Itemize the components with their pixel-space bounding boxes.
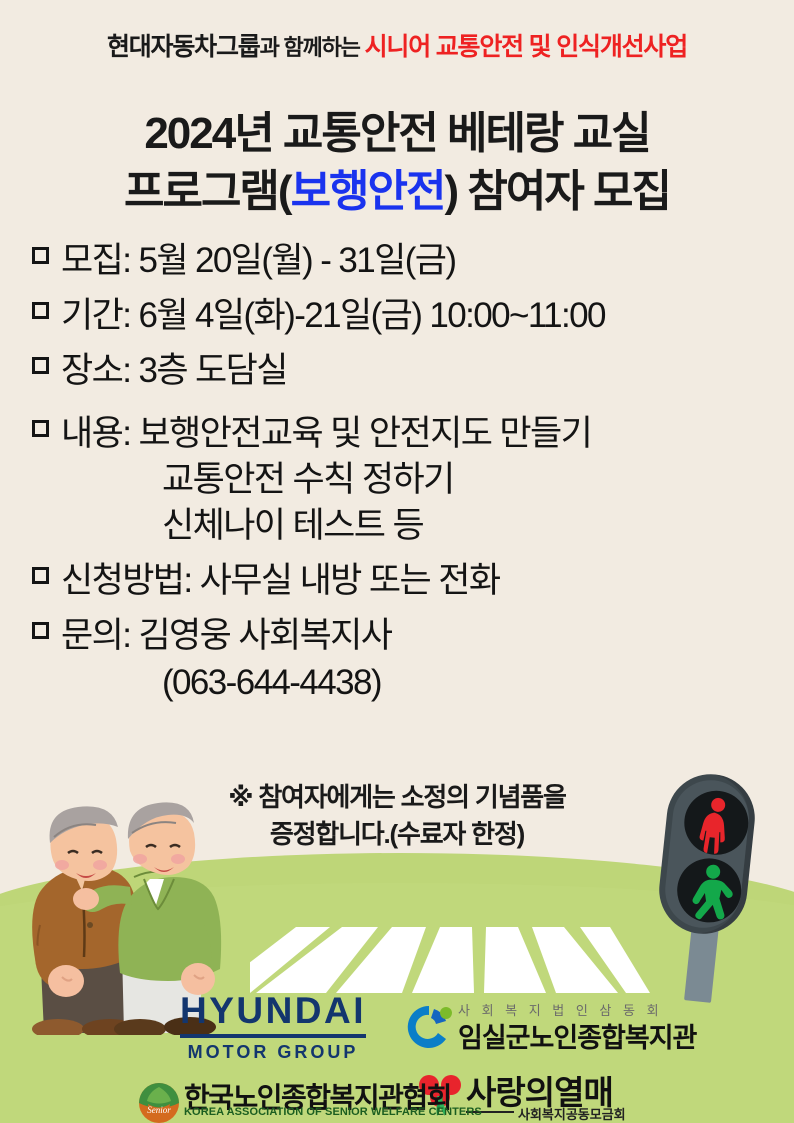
details-list: 모집: 5월 20일(월) - 31일(금) 기간: 6월 4일(화)-21일(… <box>32 238 792 706</box>
detail-contact-phone: (063-644-4438) <box>32 660 792 706</box>
hyundai-wordmark: HYUNDAI <box>168 992 378 1029</box>
list-item: 기간: 6월 4일(화)-21일(금) 10:00~11:00 <box>32 293 792 339</box>
gift-note-line2: 증정합니다.(수료자 한정) <box>0 816 794 853</box>
gift-note-line1: ※ 참여자에게는 소정의 기념품을 <box>0 779 794 816</box>
crosswalk-stripes-icon <box>250 915 650 993</box>
list-item: 문의: 김영웅 사회복지사 <box>32 613 792 659</box>
square-bullet-icon <box>32 622 49 639</box>
list-item: 장소: 3층 도담실 <box>32 348 792 394</box>
detail-location: 장소: 3층 도담실 <box>61 348 287 394</box>
hyundai-motor-group-logo: HYUNDAI MOTOR GROUP <box>168 992 378 1063</box>
traffic-light-green-lamp <box>674 855 744 925</box>
detail-content: 내용: 보행안전교육 및 안전지도 만들기 <box>61 411 591 457</box>
list-item: 모집: 5월 20일(월) - 31일(금) <box>32 238 792 284</box>
page-title-line1: 2024년 교통안전 베테랑 교실 <box>0 97 794 161</box>
detail-period: 기간: 6월 4일(화)-21일(금) 10:00~11:00 <box>61 293 605 339</box>
walking-pedestrian-icon <box>674 855 744 925</box>
kicker-connector: 과 함께하는 <box>260 35 365 60</box>
crosswalk-illustration <box>250 915 650 993</box>
kicker-line: 현대자동차그룹과 함께하는 시니어 교통안전 및 인식개선사업 <box>0 27 794 63</box>
kicker-program-name: 시니어 교통안전 및 인식개선사업 <box>365 33 687 61</box>
page-title-line2: 프로그램(보행안전) 참여자 모집 <box>0 155 794 219</box>
imsil-circle-mark-icon <box>404 1002 454 1052</box>
kasw-english-name: KOREA ASSOCIATION OF SENIOR WELFARE CENT… <box>184 1106 482 1118</box>
title-prefix: 프로그램( <box>124 167 291 216</box>
title-suffix: ) 참여자 모집 <box>444 167 670 216</box>
detail-recruitment: 모집: 5월 20일(월) - 31일(금) <box>61 238 455 284</box>
hyundai-sub-wordmark: MOTOR GROUP <box>168 1042 378 1063</box>
square-bullet-icon <box>32 420 49 437</box>
senior-seal-mark-icon: Senior <box>136 1082 182 1123</box>
kicker-brand: 현대자동차그룹 <box>107 33 260 61</box>
detail-contact: 문의: 김영웅 사회복지사 <box>61 613 391 659</box>
square-bullet-icon <box>32 302 49 319</box>
list-item: 신청방법: 사무실 내방 또는 전화 <box>32 558 792 604</box>
gift-note: ※ 참여자에게는 소정의 기념품을 증정합니다.(수료자 한정) <box>0 779 794 853</box>
detail-content-subline-1: 교통안전 수칙 정하기 <box>32 457 792 503</box>
square-bullet-icon <box>32 357 49 374</box>
square-bullet-icon <box>32 567 49 584</box>
hyundai-underline <box>180 1034 366 1038</box>
list-item: 내용: 보행안전교육 및 안전지도 만들기 <box>32 411 792 457</box>
fruit-of-love-sub: 사회복지공동모금회 <box>518 1104 626 1123</box>
svg-text:Senior: Senior <box>147 1105 171 1115</box>
detail-content-subline-2: 신체나이 테스트 등 <box>32 503 792 549</box>
imsil-name: 임실군노인종합복지관 <box>458 1016 696 1055</box>
square-bullet-icon <box>32 247 49 264</box>
poster-canvas: 현대자동차그룹과 함께하는 시니어 교통안전 및 인식개선사업 2024년 교통… <box>0 0 794 1123</box>
title-highlight: 보행안전 <box>291 167 445 216</box>
detail-application-method: 신청방법: 사무실 내방 또는 전화 <box>61 558 499 604</box>
